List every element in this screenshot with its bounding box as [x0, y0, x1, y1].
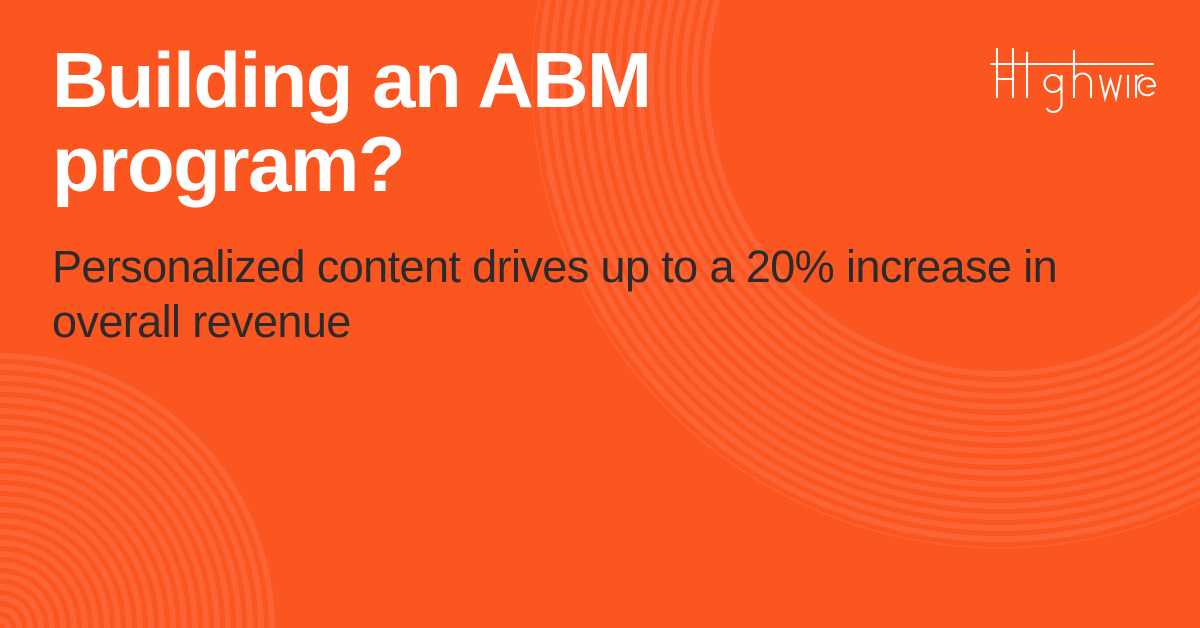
promo-banner: Building an ABM program? Personalized co… — [0, 0, 1200, 628]
decorative-rings-bottom-left — [0, 353, 275, 628]
subheadline: Personalized content drives up to a 20% … — [52, 240, 1137, 350]
headline: Building an ABM program? — [52, 38, 792, 206]
highwire-wordmark-icon — [986, 42, 1156, 116]
highwire-logo[interactable] — [986, 42, 1156, 116]
